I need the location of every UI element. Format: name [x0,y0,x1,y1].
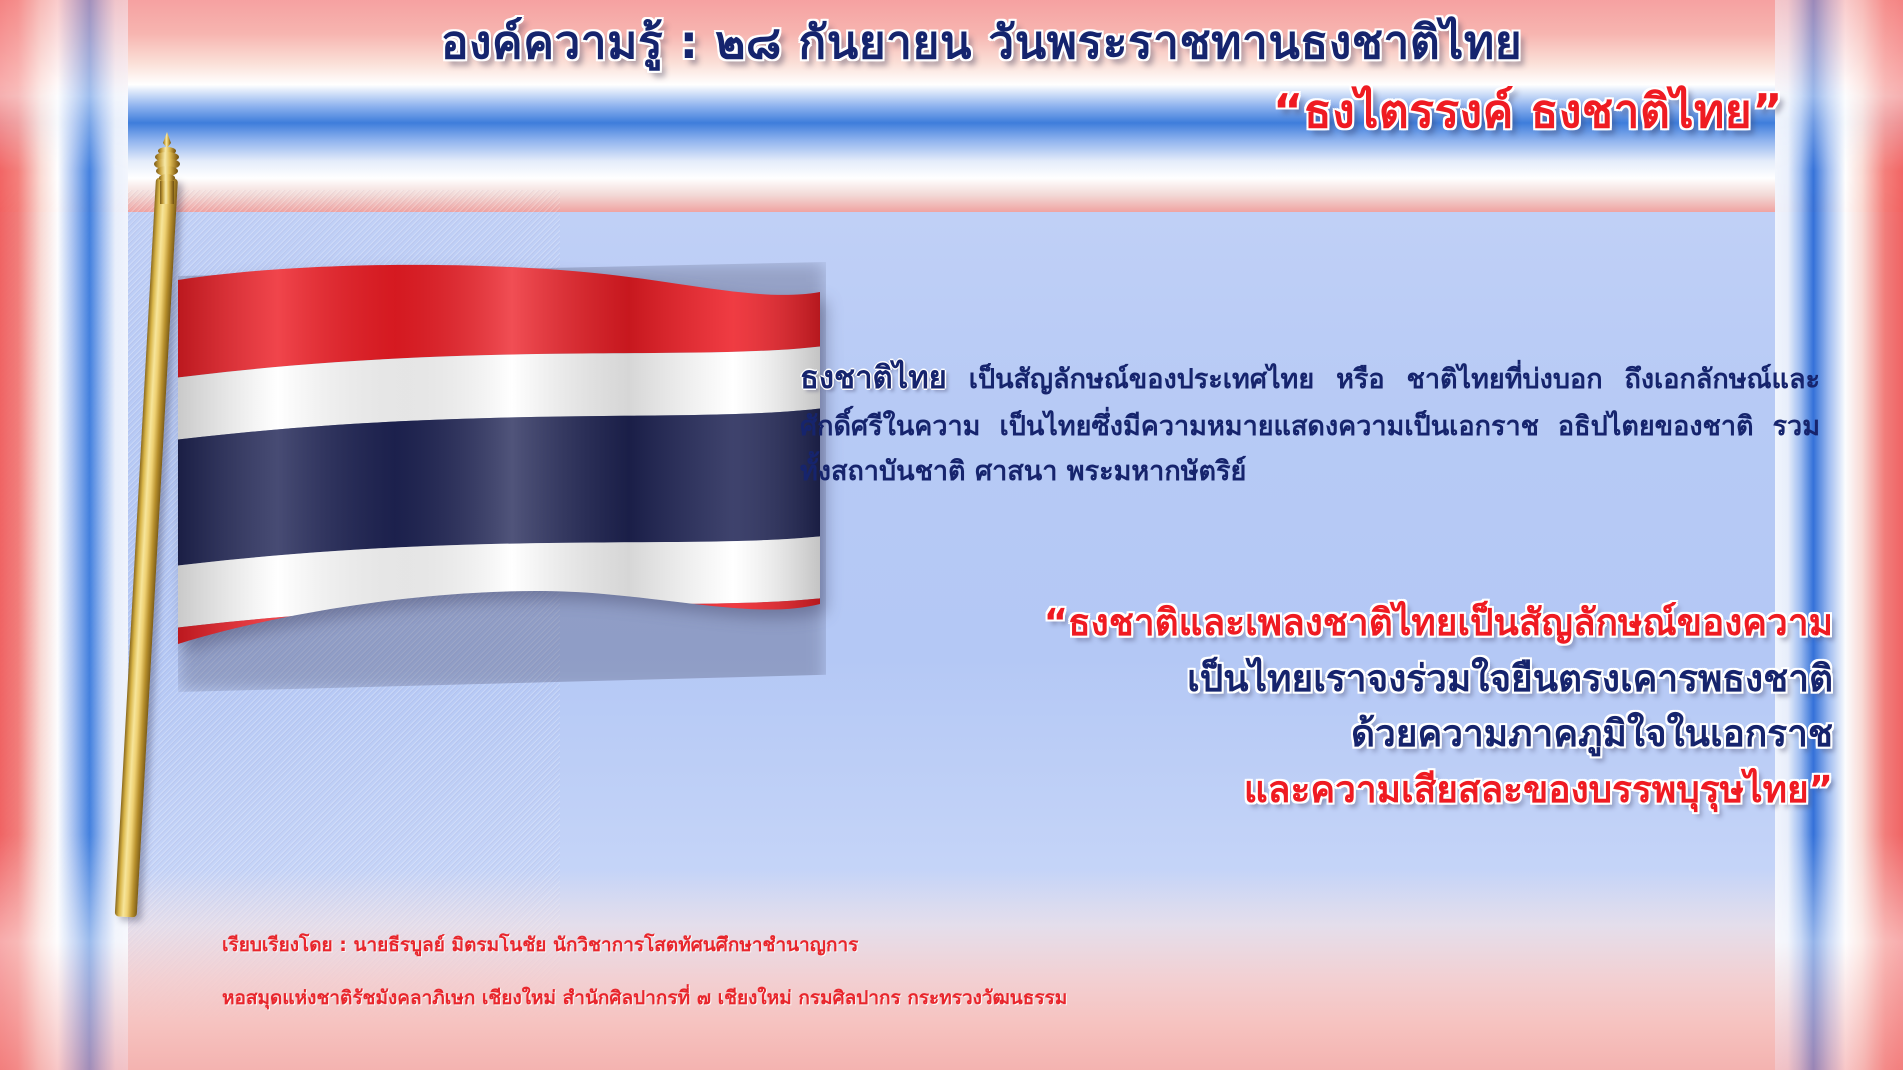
flag-cloth [174,258,824,696]
title-line-2: “ธงไตรรงค์ ธงชาติไทย” [0,80,1843,142]
credit-organization-line: หอสมุดแห่งชาติรัชมังคลาภิเษก เชียงใหม่ ส… [222,986,1067,1012]
quote-block: “ธงชาติและเพลงชาติไทยเป็นสัญลักษณ์ของควา… [753,595,1833,817]
title-line-1: องค์ความรู้ : ๒๘ กันยายน วันพระราชทานธงช… [0,14,1843,72]
right-stripe-overlay [1775,0,1903,1070]
title-block: องค์ความรู้ : ๒๘ กันยายน วันพระราชทานธงช… [0,14,1843,142]
quote-line-2: เป็นไทยเราจงร่วมใจยืนตรงเคารพธงชาติ [753,651,1833,707]
flag-pole [115,177,178,917]
flag-finial-icon [148,132,186,204]
credit-author-line: เรียบเรียงโดย : นายธีรบูลย์ มิตรมโนชัย น… [222,933,1067,959]
quote-line-1: “ธงชาติและเพลงชาติไทยเป็นสัญลักษณ์ของควา… [753,595,1833,651]
credits-block: เรียบเรียงโดย : นายธีรบูลย์ มิตรมโนชัย น… [222,933,1067,1012]
right-tricolor-stripe [1775,0,1903,1070]
thai-flag-illustration [60,150,800,950]
body-paragraph: ธงชาติไทย เป็นสัญลักษณ์ของประเทศไทย หรือ… [800,352,1820,495]
body-lead-phrase: ธงชาติไทย [800,360,947,396]
poster-canvas: องค์ความรู้ : ๒๘ กันยายน วันพระราชทานธงช… [0,0,1903,1070]
body-paragraph-text: เป็นสัญลักษณ์ของประเทศไทย หรือ ชาติไทยที… [800,364,1820,487]
quote-line-4: และความเสียสละของบรรพบุรุษไทย” [753,762,1833,818]
quote-line-3: ด้วยความภาคภูมิใจในเอกราช [753,706,1833,762]
